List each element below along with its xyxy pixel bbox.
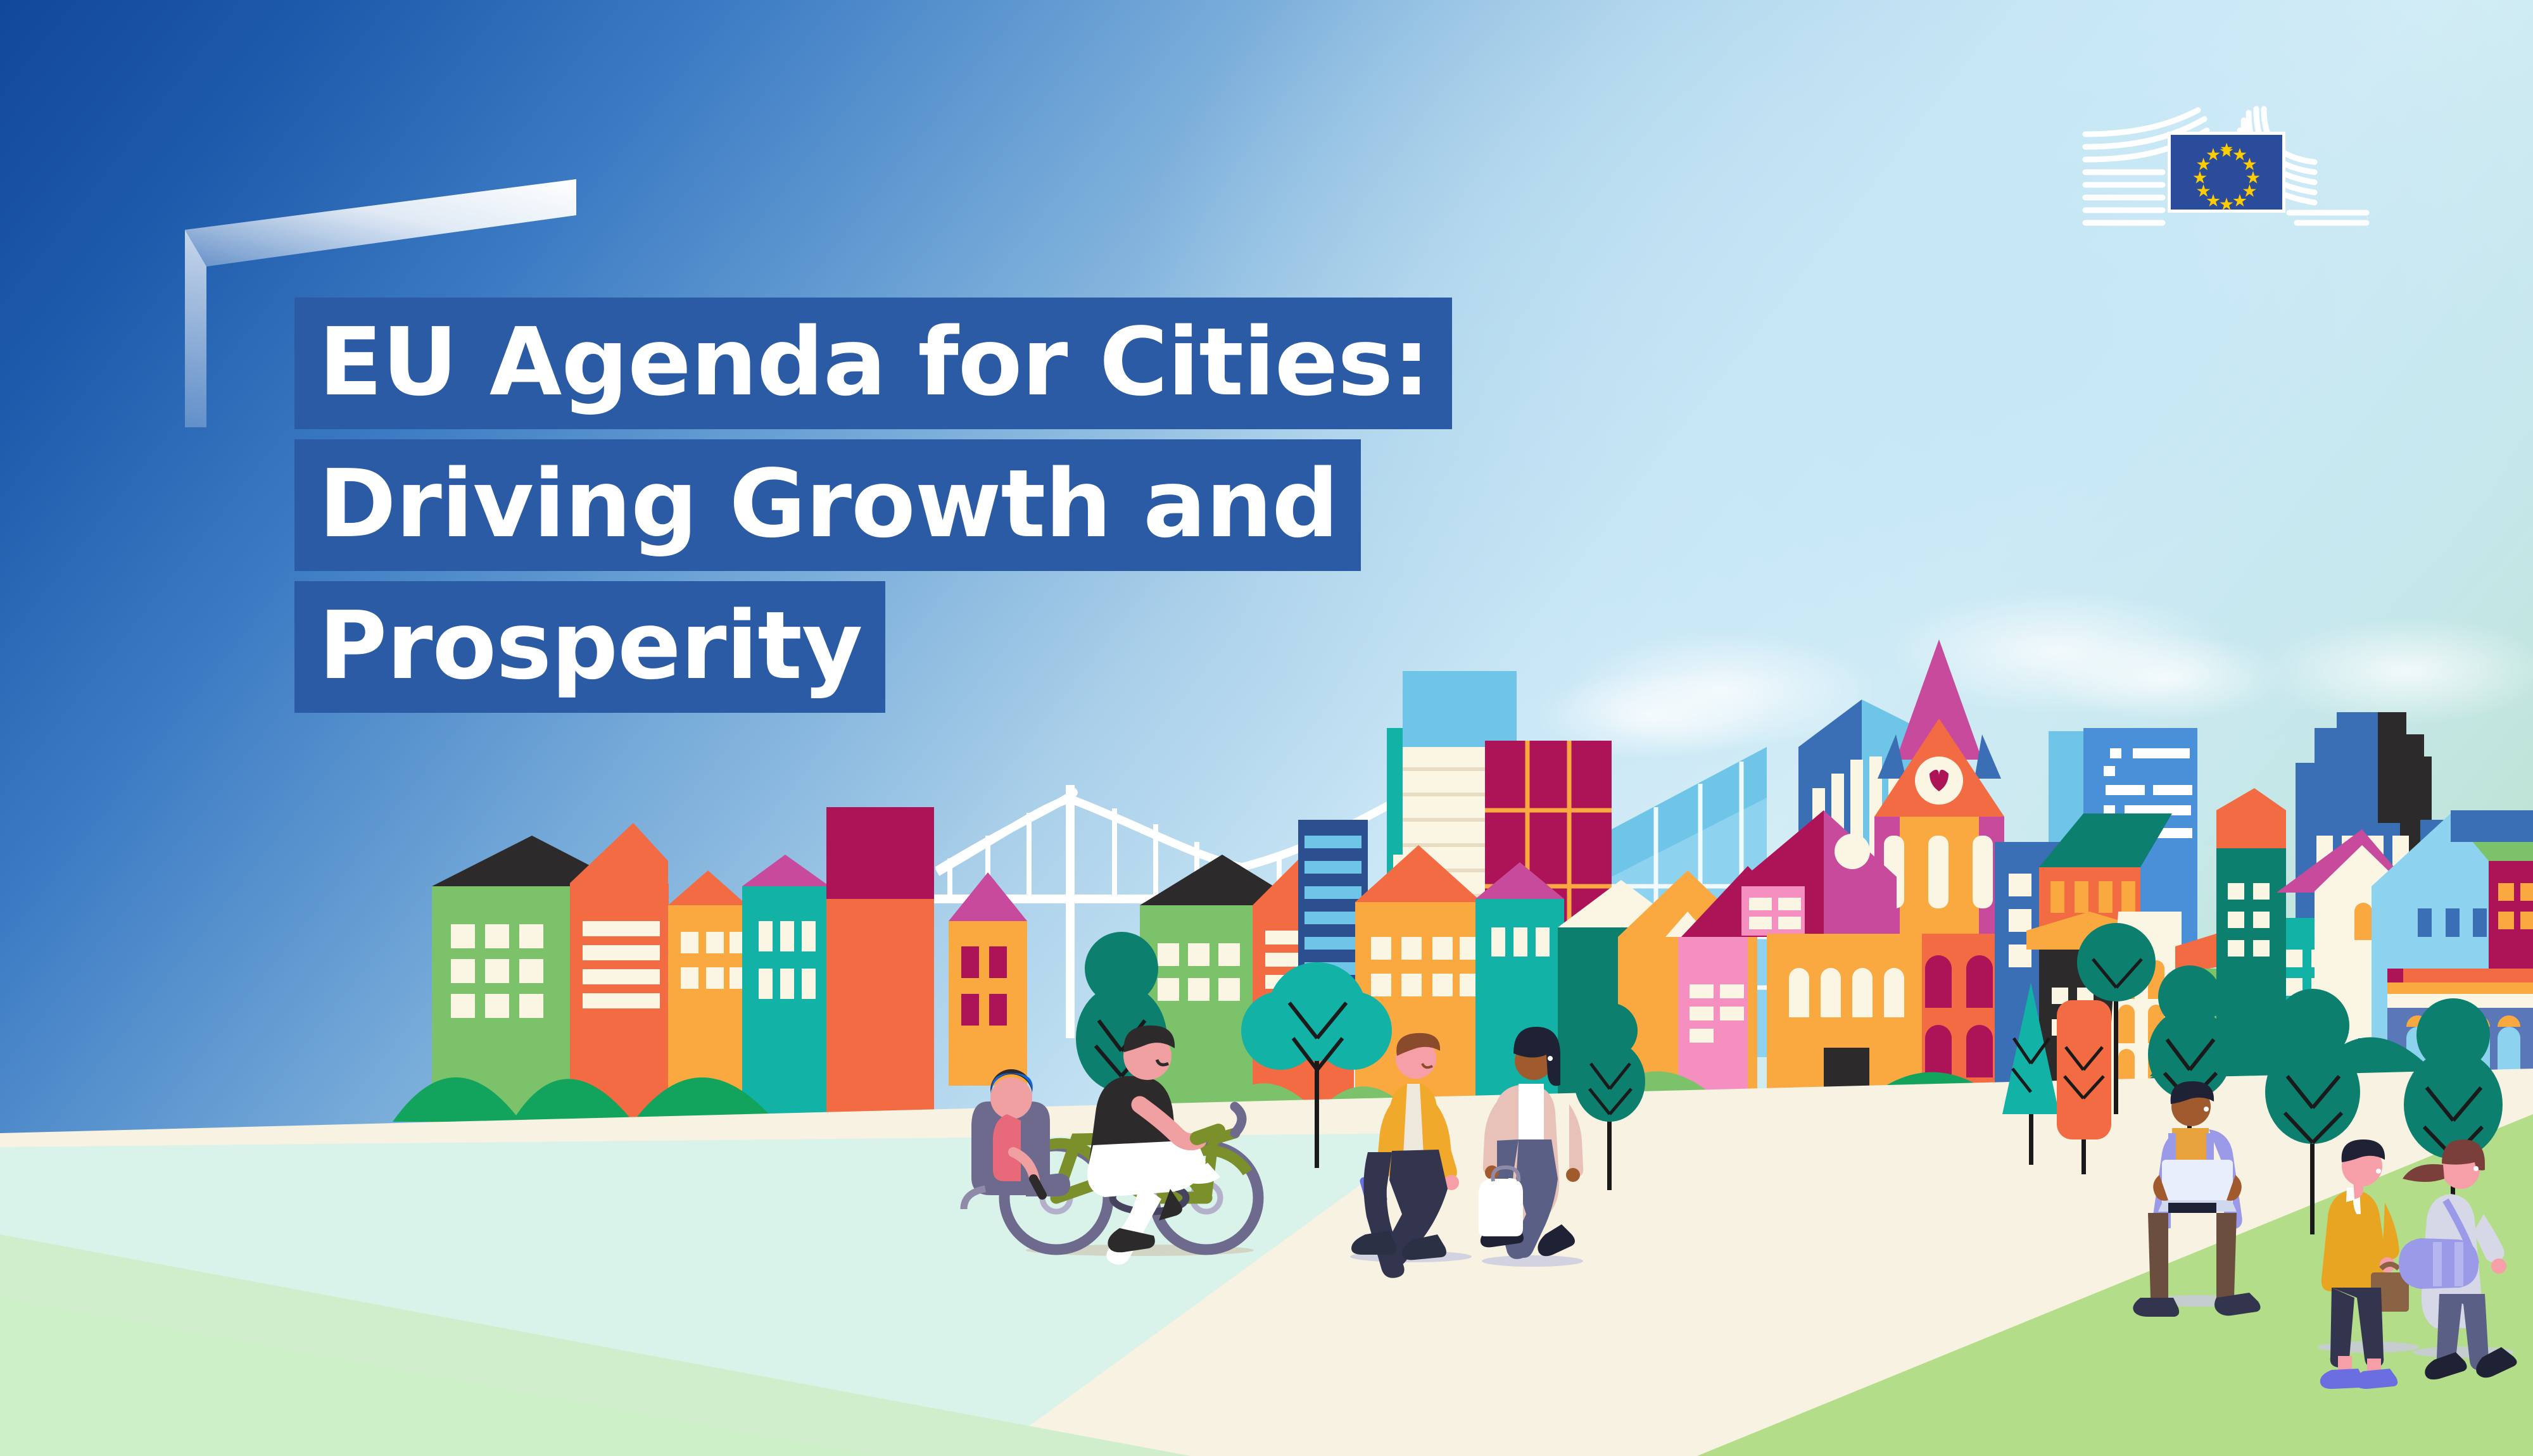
- eu-agenda-for-cities-banner: EU Agenda for Cities: Driving Growth and…: [0, 0, 2533, 1456]
- european-commission-logo: [2074, 95, 2378, 241]
- title-line-1: EU Agenda for Cities:: [294, 298, 1452, 429]
- title-line-2: Driving Growth and: [294, 439, 1361, 571]
- page-title: EU Agenda for Cities: Driving Growth and…: [294, 298, 1688, 723]
- title-line-3: Prosperity: [294, 581, 885, 713]
